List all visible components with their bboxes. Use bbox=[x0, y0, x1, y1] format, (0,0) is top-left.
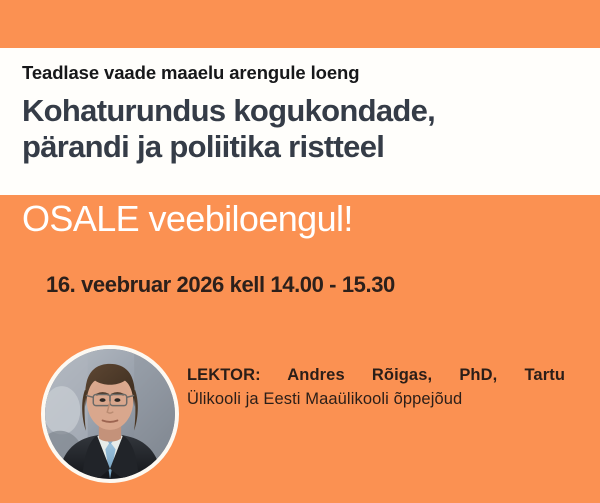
page-title: Kohaturundus kogukondade, pärandi ja pol… bbox=[22, 93, 578, 164]
event-datetime: 16. veebruar 2026 kell 14.00 - 15.30 bbox=[46, 272, 395, 297]
headline-band: Teadlase vaade maaelu arengule loeng Koh… bbox=[0, 48, 600, 195]
avatar bbox=[41, 345, 179, 483]
lecturer-info: LEKTOR: Andres Rõigas, PhD, Tartu Ülikoo… bbox=[187, 364, 565, 411]
lecturer-affiliation-line: Ülikooli ja Eesti Maaülikooli õppejõud bbox=[187, 388, 565, 410]
event-poster: Teadlase vaade maaelu arengule loeng Koh… bbox=[0, 0, 600, 503]
portrait-photo bbox=[45, 349, 175, 479]
poster-kicker: Teadlase vaade maaelu arengule loeng bbox=[22, 58, 578, 84]
lecturer-name-line: LEKTOR: Andres Rõigas, PhD, Tartu bbox=[187, 364, 565, 386]
call-to-action-text: OSALE veebiloengul! bbox=[22, 200, 353, 238]
